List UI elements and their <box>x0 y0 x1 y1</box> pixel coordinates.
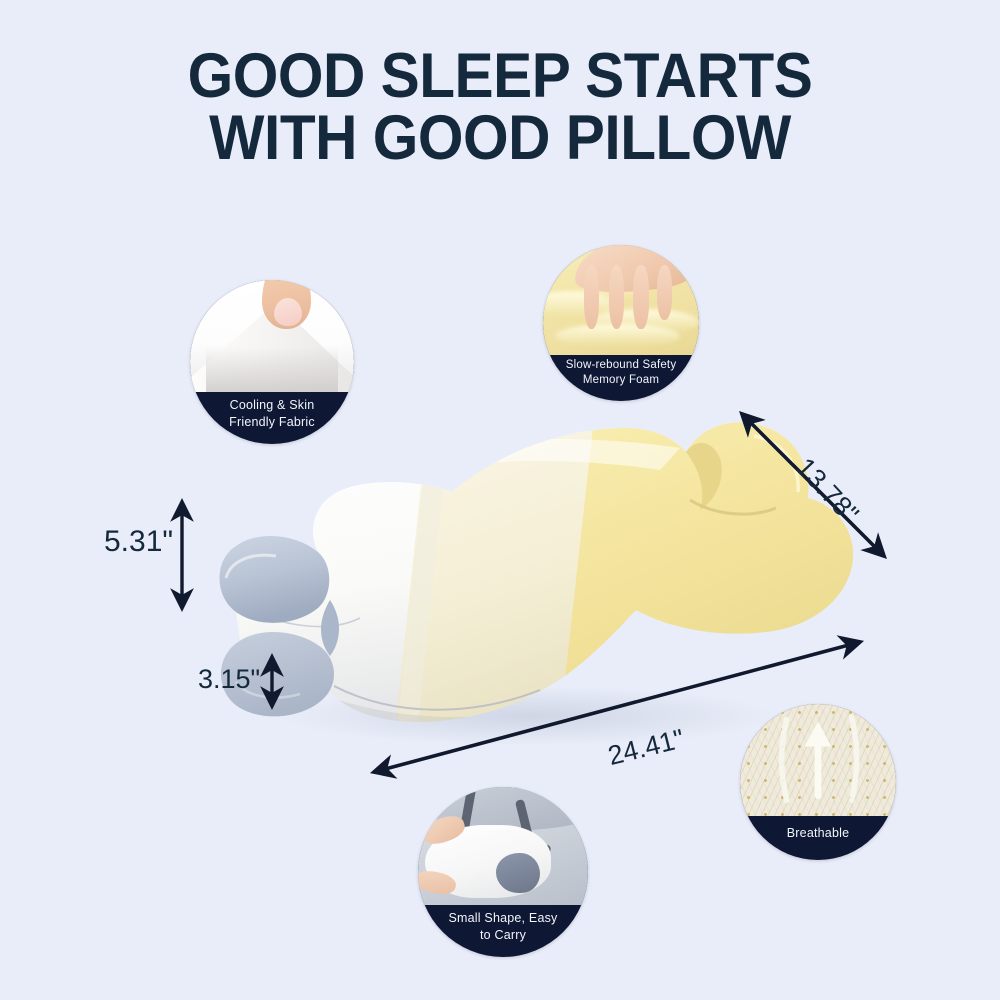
title-line-2: WITH GOOD PILLOW <box>35 108 965 170</box>
easy-carry-caption: Small Shape, Easy to Carry <box>418 905 588 957</box>
cooling-fabric-icon <box>190 280 354 392</box>
easy-carry-caption-line2: to Carry <box>424 927 582 944</box>
infographic-canvas: GOOD SLEEP STARTS WITH GOOD PILLOW <box>0 0 1000 1000</box>
page-title: GOOD SLEEP STARTS WITH GOOD PILLOW <box>35 46 965 169</box>
easy-carry-icon <box>418 787 588 905</box>
dimension-label-height-front: 3.15" <box>198 664 260 695</box>
memory-foam-icon <box>543 245 699 355</box>
dimension-label-depth: 13.78" <box>789 452 864 530</box>
memory-foam-caption: Slow-rebound Safety Memory Foam <box>543 355 699 401</box>
pillow-right-notch <box>686 436 798 514</box>
easy-carry-caption-line1: Small Shape, Easy <box>424 910 582 927</box>
dimension-label-height-main: 5.31" <box>104 525 173 559</box>
cooling-fabric-caption: Cooling & Skin Friendly Fabric <box>190 392 354 444</box>
breathable-icon <box>740 704 896 816</box>
cooling-fabric-caption-line1: Cooling & Skin <box>196 397 348 414</box>
memory-foam-caption-line1: Slow-rebound Safety <box>549 358 693 373</box>
feature-badge-breathable[interactable]: Breathable <box>740 704 896 860</box>
breathable-caption-line1: Breathable <box>746 825 890 842</box>
cooling-fabric-caption-line2: Friendly Fabric <box>196 414 348 431</box>
memory-foam-caption-line2: Memory Foam <box>549 373 693 388</box>
title-line-1: GOOD SLEEP STARTS <box>35 46 965 108</box>
product-shadow <box>280 686 780 746</box>
dimension-label-width: 24.41" <box>605 723 687 772</box>
feature-badge-memory-foam[interactable]: Slow-rebound Safety Memory Foam <box>543 245 699 401</box>
breathable-caption: Breathable <box>740 816 896 860</box>
feature-badge-cooling-fabric[interactable]: Cooling & Skin Friendly Fabric <box>190 280 354 444</box>
feature-badge-easy-carry[interactable]: Small Shape, Easy to Carry <box>418 787 588 957</box>
